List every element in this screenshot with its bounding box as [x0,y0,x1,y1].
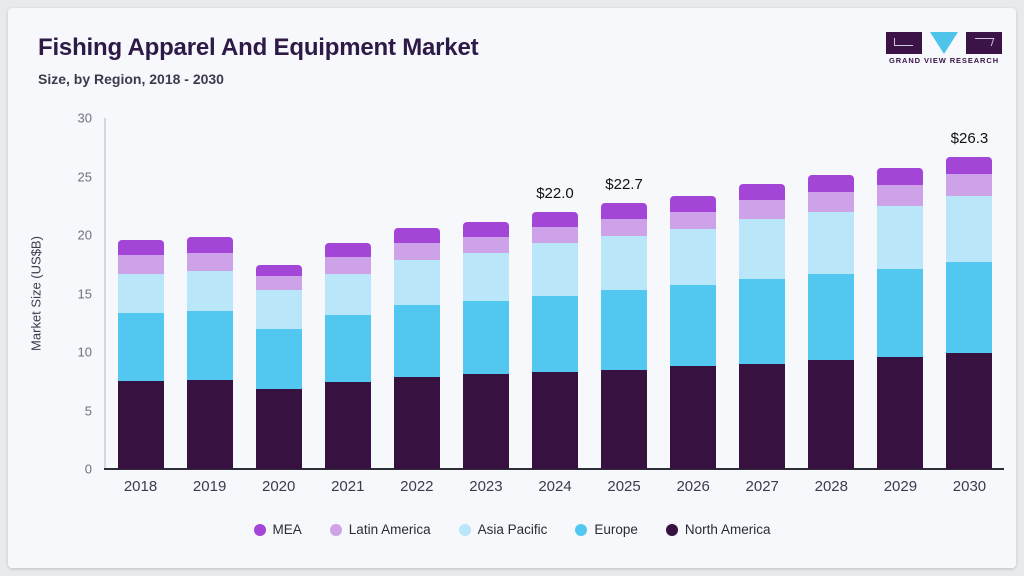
bar-group-2019[interactable] [187,237,233,469]
bar-segment-asia-pacific[interactable] [946,196,992,262]
bar-segment-asia-pacific[interactable] [187,271,233,311]
bar-value-label-2030: $26.3 [909,130,1016,147]
bar-segment-mea[interactable] [670,196,716,211]
bar-segment-asia-pacific[interactable] [670,229,716,285]
bar-segment-latin-america[interactable] [739,200,785,219]
bar-segment-north-america[interactable] [325,382,371,469]
bar-group-2023[interactable] [463,222,509,469]
bar-segment-north-america[interactable] [256,389,302,469]
bar-segment-europe[interactable] [187,311,233,380]
bar-segment-mea[interactable] [463,222,509,237]
legend-label: Asia Pacific [478,522,548,537]
bar-segment-mea[interactable] [946,157,992,175]
legend-swatch-icon [575,524,587,536]
y-axis-tick: 30 [48,111,92,126]
bar-segment-europe[interactable] [118,313,164,381]
bar-series-container [106,118,1004,469]
bar-segment-latin-america[interactable] [946,174,992,196]
y-axis-tick: 5 [48,403,92,418]
bar-segment-north-america[interactable] [808,360,854,469]
bar-segment-north-america[interactable] [532,372,578,469]
bar-segment-europe[interactable] [325,315,371,383]
bar-segment-europe[interactable] [394,305,440,376]
bar-segment-europe[interactable] [808,274,854,361]
bar-segment-mea[interactable] [601,203,647,218]
bar-segment-europe[interactable] [739,279,785,363]
bar-segment-latin-america[interactable] [187,253,233,272]
bar-group-2025[interactable] [601,203,647,469]
bar-segment-latin-america[interactable] [601,219,647,237]
bar-segment-latin-america[interactable] [394,243,440,259]
legend-item-asia-pacific[interactable]: Asia Pacific [459,522,548,537]
bar-segment-europe[interactable] [256,329,302,390]
bar-group-2022[interactable] [394,228,440,469]
bar-group-2020[interactable] [256,265,302,469]
bar-group-2028[interactable] [808,175,854,469]
bar-segment-latin-america[interactable] [670,212,716,230]
bar-segment-latin-america[interactable] [808,192,854,212]
bar-segment-europe[interactable] [946,262,992,353]
bar-segment-mea[interactable] [739,184,785,200]
bar-segment-north-america[interactable] [601,370,647,469]
bar-segment-latin-america[interactable] [877,185,923,206]
bar-segment-latin-america[interactable] [256,276,302,290]
bar-segment-asia-pacific[interactable] [325,274,371,315]
bar-segment-asia-pacific[interactable] [118,274,164,314]
legend-label: North America [685,522,771,537]
bar-segment-north-america[interactable] [946,353,992,469]
bar-segment-mea[interactable] [325,243,371,257]
bar-segment-asia-pacific[interactable] [463,253,509,301]
bar-group-2029[interactable] [877,168,923,469]
bar-segment-mea[interactable] [877,168,923,184]
y-axis-tick: 20 [48,228,92,243]
legend-swatch-icon [254,524,266,536]
bar-segment-latin-america[interactable] [463,237,509,252]
bar-segment-latin-america[interactable] [325,257,371,273]
bar-segment-north-america[interactable] [877,357,923,469]
bar-segment-latin-america[interactable] [532,227,578,243]
bar-segment-north-america[interactable] [739,364,785,469]
bar-segment-europe[interactable] [601,290,647,370]
legend-item-north-america[interactable]: North America [666,522,771,537]
bar-segment-north-america[interactable] [118,381,164,469]
chart-card: Fishing Apparel And Equipment Market Siz… [8,8,1016,568]
bar-segment-mea[interactable] [118,240,164,255]
bar-segment-asia-pacific[interactable] [256,290,302,329]
bar-segment-europe[interactable] [670,285,716,366]
bar-segment-asia-pacific[interactable] [601,236,647,290]
y-axis-tick: 0 [48,462,92,477]
bar-segment-north-america[interactable] [670,366,716,469]
bar-segment-mea[interactable] [532,212,578,227]
bar-group-2027[interactable] [739,184,785,469]
bar-segment-asia-pacific[interactable] [808,212,854,274]
y-axis-tick: 25 [48,169,92,184]
legend-item-mea[interactable]: MEA [254,522,302,537]
bar-group-2030[interactable] [946,157,992,469]
bar-segment-asia-pacific[interactable] [877,206,923,269]
bar-segment-north-america[interactable] [187,380,233,469]
bar-segment-europe[interactable] [877,269,923,357]
bar-segment-mea[interactable] [394,228,440,243]
bar-segment-asia-pacific[interactable] [739,219,785,280]
bar-segment-europe[interactable] [532,296,578,372]
legend-item-europe[interactable]: Europe [575,522,638,537]
legend-item-latin-america[interactable]: Latin America [330,522,431,537]
bar-segment-mea[interactable] [808,175,854,191]
legend-label: Latin America [349,522,431,537]
bar-segment-asia-pacific[interactable] [394,260,440,306]
bar-value-label-2025: $22.7 [564,176,684,193]
x-axis-tick-2030: 2030 [924,478,1014,495]
bar-segment-north-america[interactable] [394,377,440,469]
bar-segment-north-america[interactable] [463,374,509,469]
chart-plot-area: Market Size (US$B) 302520151050 20182019… [8,8,1016,568]
bar-segment-asia-pacific[interactable] [532,243,578,296]
legend-swatch-icon [666,524,678,536]
bar-segment-mea[interactable] [256,265,302,276]
bar-group-2026[interactable] [670,196,716,469]
bar-group-2021[interactable] [325,243,371,469]
bar-group-2018[interactable] [118,240,164,469]
y-axis-tick: 15 [48,286,92,301]
bar-segment-mea[interactable] [187,237,233,252]
legend-label: Europe [594,522,638,537]
legend-label: MEA [273,522,302,537]
chart-legend: MEALatin AmericaAsia PacificEuropeNorth … [8,522,1016,537]
y-axis-ticks: 302520151050 [36,8,92,568]
y-axis-tick: 10 [48,345,92,360]
legend-swatch-icon [459,524,471,536]
bar-group-2024[interactable] [532,212,578,469]
legend-swatch-icon [330,524,342,536]
bar-segment-latin-america[interactable] [118,255,164,274]
bar-segment-europe[interactable] [463,301,509,375]
